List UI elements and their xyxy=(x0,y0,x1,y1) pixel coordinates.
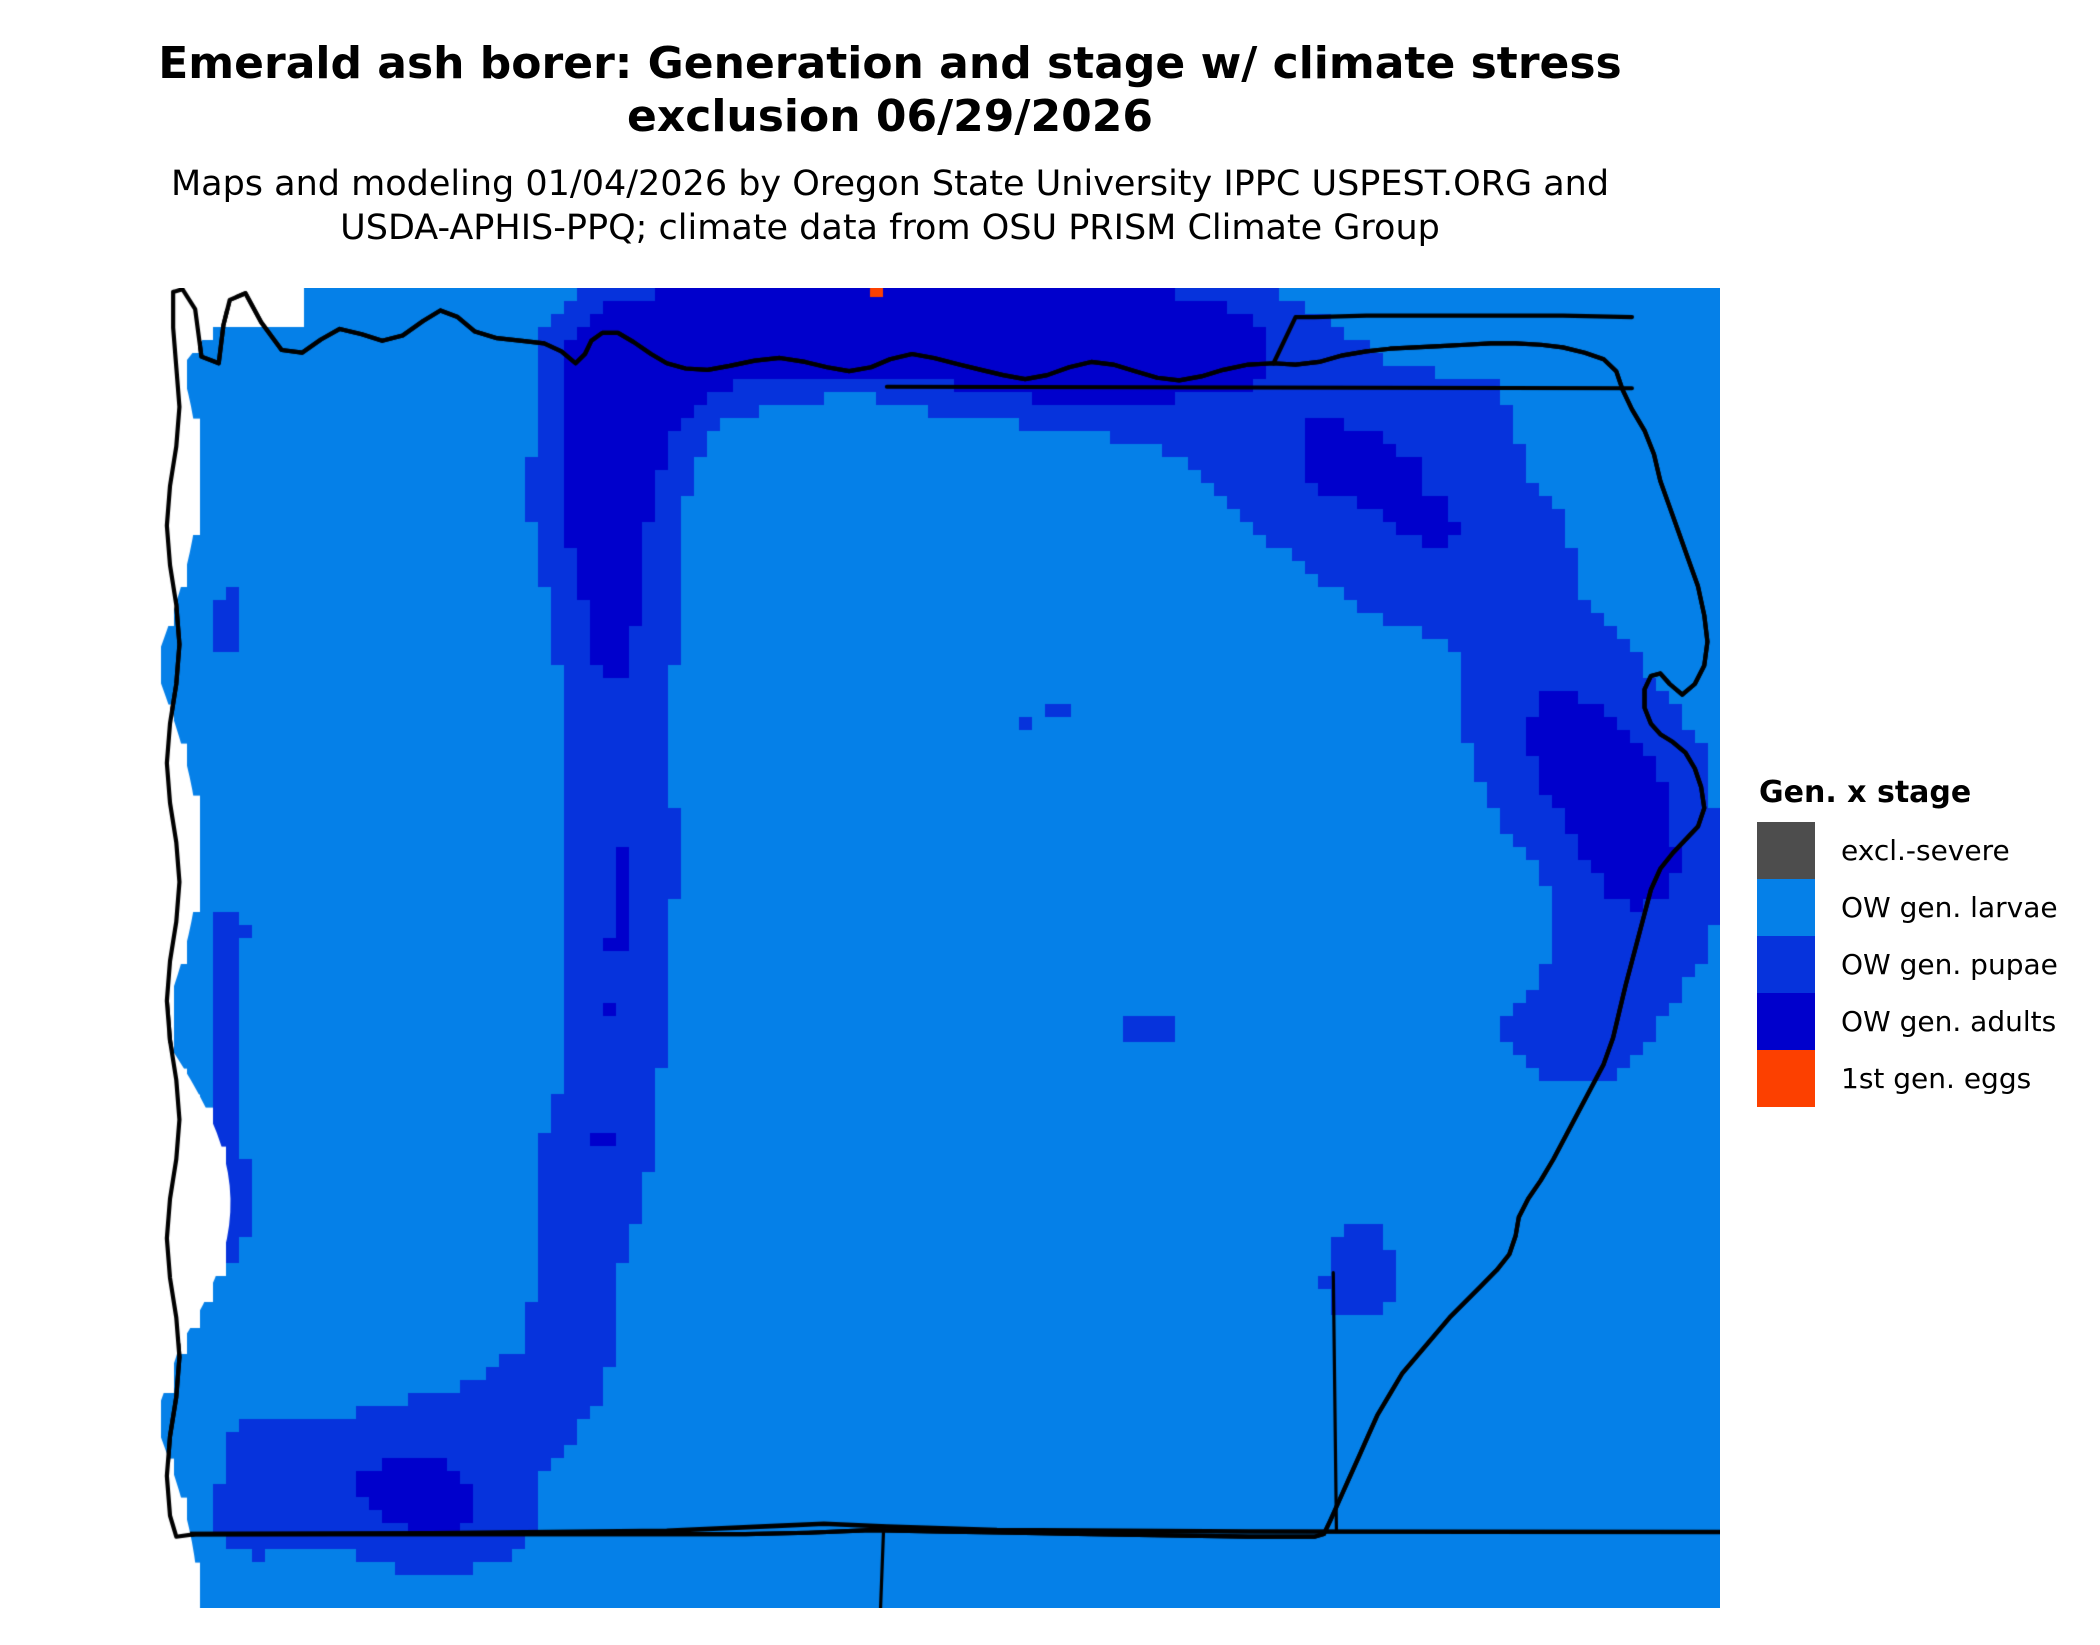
title-block: Emerald ash borer: Generation and stage … xyxy=(120,38,1660,251)
legend-swatch xyxy=(1757,879,1815,936)
legend-swatch xyxy=(1757,1050,1815,1107)
legend-title: Gen. x stage xyxy=(1759,775,2087,810)
legend-label: OW gen. adults xyxy=(1841,1005,2056,1038)
legend-item: OW gen. adults xyxy=(1757,993,2087,1050)
legend-item: OW gen. pupae xyxy=(1757,936,2087,993)
page-title: Emerald ash borer: Generation and stage … xyxy=(120,38,1660,144)
legend-item: OW gen. larvae xyxy=(1757,879,2087,936)
map-page: Emerald ash borer: Generation and stage … xyxy=(0,0,2100,1645)
legend-item: 1st gen. eggs xyxy=(1757,1050,2087,1107)
page-subtitle: Maps and modeling 01/04/2026 by Oregon S… xyxy=(120,144,1660,252)
legend-label: excl.-severe xyxy=(1841,834,2010,867)
legend-item: excl.-severe xyxy=(1757,822,2087,879)
map-figure xyxy=(148,288,1720,1608)
legend: Gen. x stage excl.-severeOW gen. larvaeO… xyxy=(1757,775,2087,1107)
legend-swatch xyxy=(1757,993,1815,1050)
legend-label: 1st gen. eggs xyxy=(1841,1062,2031,1095)
map-raster-canvas xyxy=(148,288,1720,1608)
legend-swatch xyxy=(1757,822,1815,879)
legend-swatch xyxy=(1757,936,1815,993)
legend-items: excl.-severeOW gen. larvaeOW gen. pupaeO… xyxy=(1757,822,2087,1107)
legend-label: OW gen. larvae xyxy=(1841,891,2058,924)
legend-label: OW gen. pupae xyxy=(1841,948,2058,981)
